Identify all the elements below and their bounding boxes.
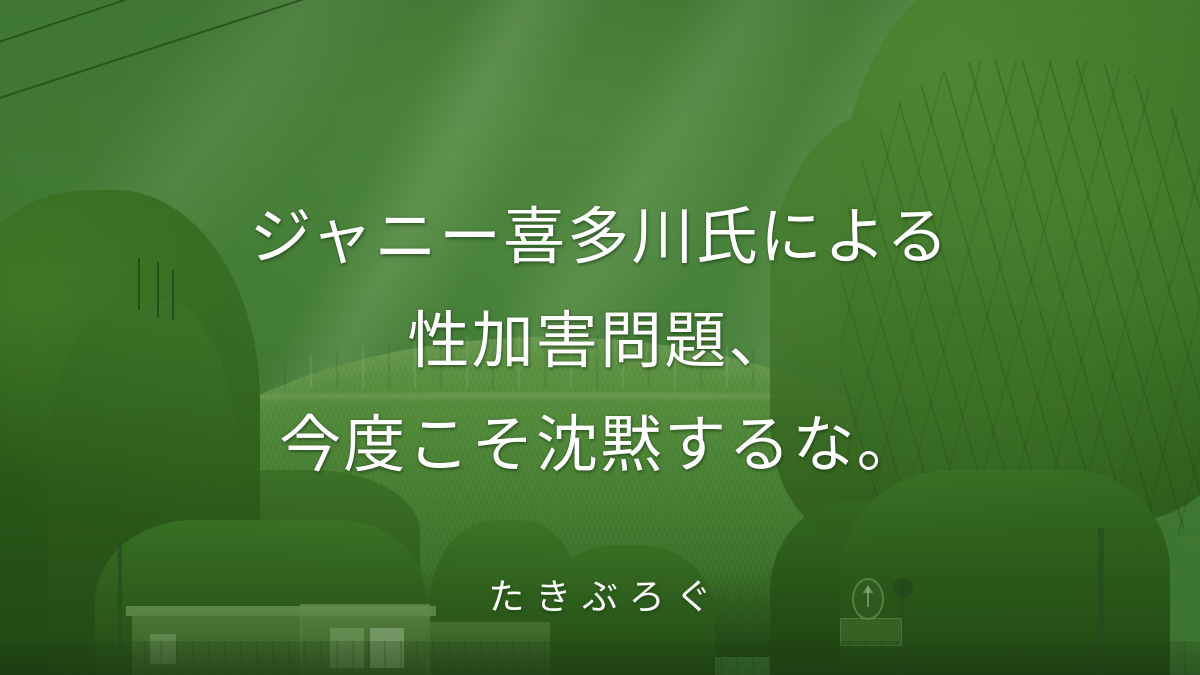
- headline: ジャニー喜多川氏による 性加害問題、 今度こそ沈黙するな。: [250, 186, 951, 498]
- blog-name-caption: たきぶろぐ: [478, 568, 723, 620]
- headline-line-1: ジャニー喜多川氏による: [250, 186, 951, 290]
- eyecatch-card: ジャニー喜多川氏による 性加害問題、 今度こそ沈黙するな。 たきぶろぐ: [0, 0, 1200, 675]
- headline-line-2: 性加害問題、: [250, 290, 951, 394]
- text-overlay: ジャニー喜多川氏による 性加害問題、 今度こそ沈黙するな。 たきぶろぐ: [0, 0, 1200, 675]
- headline-line-3: 今度こそ沈黙するな。: [250, 394, 951, 498]
